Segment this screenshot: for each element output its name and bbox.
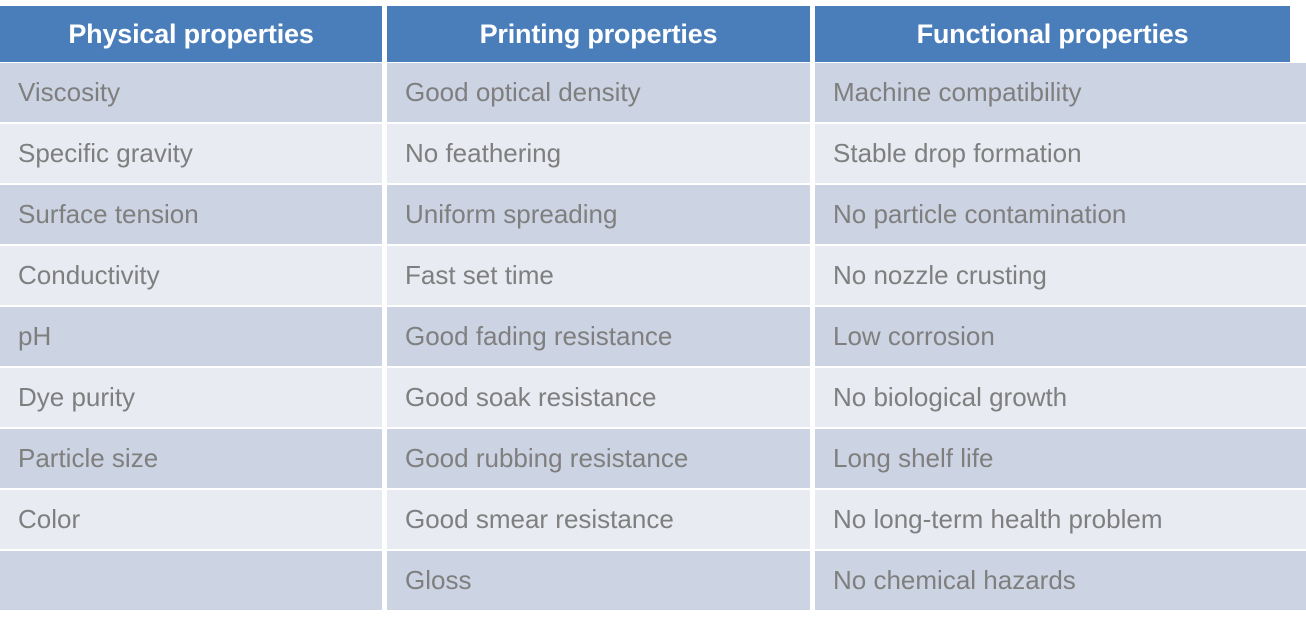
cell-printing-text: Good smear resistance xyxy=(387,490,810,549)
cell-physical: Specific gravity xyxy=(0,123,385,184)
cell-functional-text: No particle contamination xyxy=(815,185,1306,244)
table-row: Specific gravity No feathering Stable dr… xyxy=(0,123,1306,184)
cell-printing-text: Good fading resistance xyxy=(387,307,810,366)
column-header-physical-label: Physical properties xyxy=(0,6,382,62)
table-row: Dye purity Good soak resistance No biolo… xyxy=(0,367,1306,428)
table-row: Particle size Good rubbing resistance Lo… xyxy=(0,428,1306,489)
cell-functional: Machine compatibility xyxy=(813,62,1306,123)
cell-physical-empty xyxy=(0,550,385,611)
table-header-row: Physical properties Printing properties … xyxy=(0,0,1306,62)
cell-physical-text: Conductivity xyxy=(0,246,382,305)
cell-functional: Stable drop formation xyxy=(813,123,1306,184)
cell-physical-text: Dye purity xyxy=(0,368,382,427)
cell-printing: No feathering xyxy=(385,123,813,184)
cell-functional: No chemical hazards xyxy=(813,550,1306,611)
cell-functional-text: No long-term health problem xyxy=(815,490,1306,549)
cell-physical: Particle size xyxy=(0,428,385,489)
cell-functional: Long shelf life xyxy=(813,428,1306,489)
cell-physical: Surface tension xyxy=(0,184,385,245)
column-header-functional: Functional properties xyxy=(813,0,1306,62)
cell-printing: Good smear resistance xyxy=(385,489,813,550)
table-row: Gloss No chemical hazards xyxy=(0,550,1306,611)
cell-physical-text: pH xyxy=(0,307,382,366)
table-row: Color Good smear resistance No long-term… xyxy=(0,489,1306,550)
cell-physical: Dye purity xyxy=(0,367,385,428)
cell-functional-text: Machine compatibility xyxy=(815,63,1306,122)
table-row: pH Good fading resistance Low corrosion xyxy=(0,306,1306,367)
table-row: Viscosity Good optical density Machine c… xyxy=(0,62,1306,123)
properties-table: Physical properties Printing properties … xyxy=(0,0,1306,611)
cell-functional: No nozzle crusting xyxy=(813,245,1306,306)
cell-functional: Low corrosion xyxy=(813,306,1306,367)
table-body: Viscosity Good optical density Machine c… xyxy=(0,62,1306,611)
cell-printing: Good soak resistance xyxy=(385,367,813,428)
cell-printing: Good rubbing resistance xyxy=(385,428,813,489)
cell-printing-text: Good rubbing resistance xyxy=(387,429,810,488)
cell-printing-text: Uniform spreading xyxy=(387,185,810,244)
table-header: Physical properties Printing properties … xyxy=(0,0,1306,62)
cell-printing-text: Fast set time xyxy=(387,246,810,305)
cell-physical-text: Particle size xyxy=(0,429,382,488)
cell-physical-text: Color xyxy=(0,490,382,549)
cell-printing-text: Gloss xyxy=(387,551,810,610)
cell-printing: Good fading resistance xyxy=(385,306,813,367)
cell-physical-text: Surface tension xyxy=(0,185,382,244)
cell-functional-text: No chemical hazards xyxy=(815,551,1306,610)
table-row: Conductivity Fast set time No nozzle cru… xyxy=(0,245,1306,306)
cell-functional-text: No nozzle crusting xyxy=(815,246,1306,305)
column-header-physical: Physical properties xyxy=(0,0,385,62)
cell-physical: Conductivity xyxy=(0,245,385,306)
column-header-functional-label: Functional properties xyxy=(815,6,1290,62)
cell-physical: Viscosity xyxy=(0,62,385,123)
cell-functional-text: Stable drop formation xyxy=(815,124,1306,183)
cell-printing: Good optical density xyxy=(385,62,813,123)
properties-table-container: Physical properties Printing properties … xyxy=(0,0,1306,627)
cell-printing-text: Good optical density xyxy=(387,63,810,122)
cell-physical-text: Viscosity xyxy=(0,63,382,122)
cell-printing-text: No feathering xyxy=(387,124,810,183)
cell-printing: Fast set time xyxy=(385,245,813,306)
cell-physical-text: Specific gravity xyxy=(0,124,382,183)
cell-printing: Uniform spreading xyxy=(385,184,813,245)
table-row: Surface tension Uniform spreading No par… xyxy=(0,184,1306,245)
column-header-printing-label: Printing properties xyxy=(387,6,810,62)
cell-functional: No biological growth xyxy=(813,367,1306,428)
cell-functional-text: Low corrosion xyxy=(815,307,1306,366)
column-header-printing: Printing properties xyxy=(385,0,813,62)
cell-printing-text: Good soak resistance xyxy=(387,368,810,427)
cell-physical: pH xyxy=(0,306,385,367)
cell-functional: No long-term health problem xyxy=(813,489,1306,550)
cell-functional-text: Long shelf life xyxy=(815,429,1306,488)
cell-physical-text xyxy=(0,551,382,610)
cell-functional-text: No biological growth xyxy=(815,368,1306,427)
cell-physical: Color xyxy=(0,489,385,550)
cell-functional: No particle contamination xyxy=(813,184,1306,245)
cell-printing: Gloss xyxy=(385,550,813,611)
